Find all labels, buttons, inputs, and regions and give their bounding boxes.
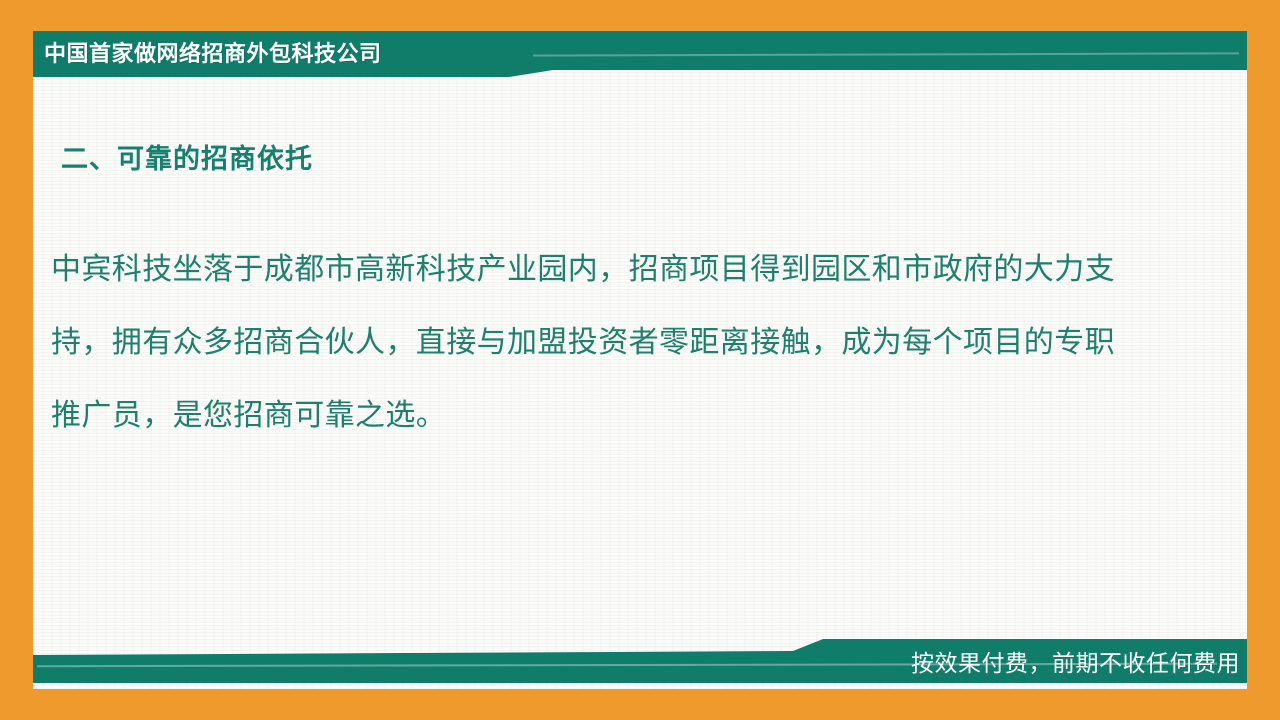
slide-content-area: 中国首家做网络招商外包科技公司 二、可靠的招商依托 中宾科技坐落于成都市高新科技… — [33, 31, 1247, 689]
body-paragraph-line: 中宾科技坐落于成都市高新科技产业园内，招商项目得到园区和市政府的大力支 — [51, 233, 1201, 306]
header-title: 中国首家做网络招商外包科技公司 — [44, 37, 382, 71]
footer-tagline: 按效果付费，前期不收任何费用 — [33, 643, 1240, 683]
section-heading: 二、可靠的招商依托 — [61, 138, 313, 180]
presentation-slide: 中国首家做网络招商外包科技公司 二、可靠的招商依托 中宾科技坐落于成都市高新科技… — [0, 0, 1280, 720]
body-paragraph-line: 推广员，是您招商可靠之选。 — [51, 379, 1201, 452]
body-paragraph-line: 持，拥有众多招商合伙人，直接与加盟投资者零距离接触，成为每个项目的专职 — [51, 306, 1201, 379]
body-paragraph: 中宾科技坐落于成都市高新科技产业园内，招商项目得到园区和市政府的大力支 持，拥有… — [51, 233, 1201, 452]
